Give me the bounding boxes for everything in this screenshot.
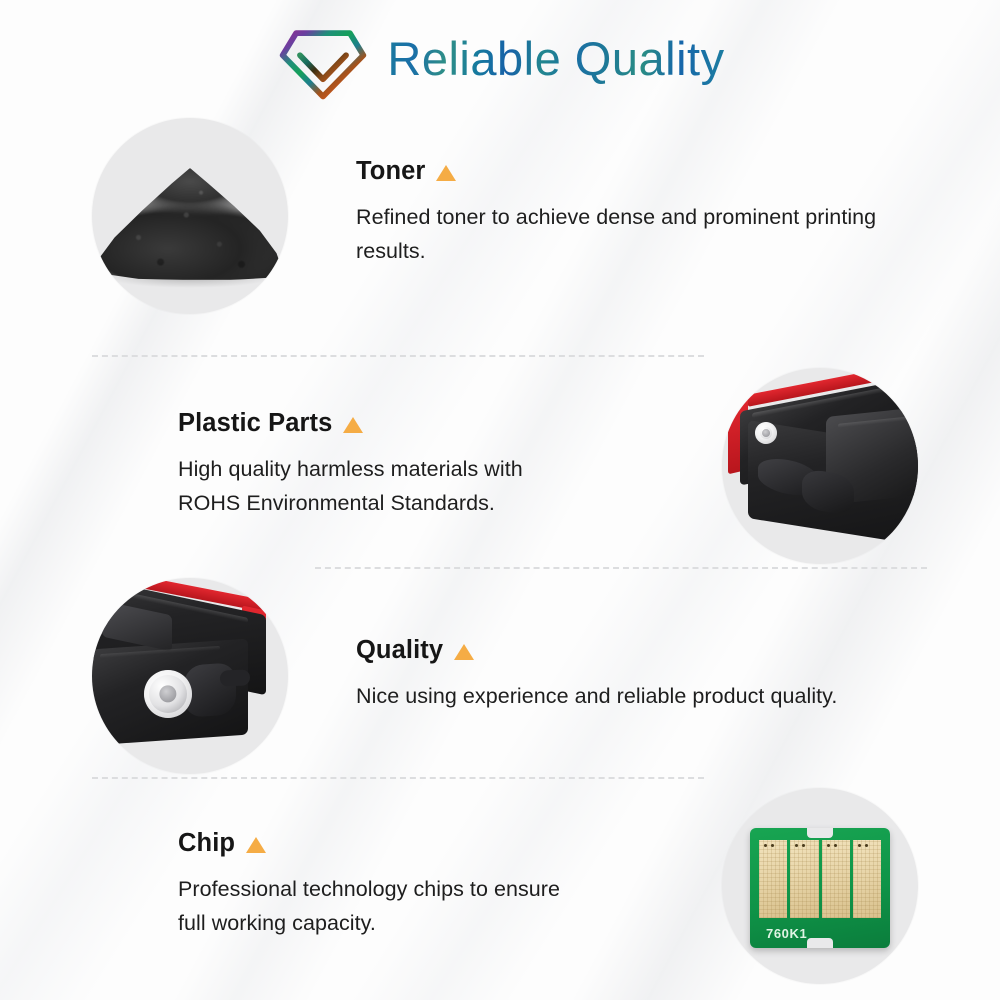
diamond-gem-logo-icon [275,12,371,108]
feature-row-toner: Toner Refined toner to achieve dense and… [92,118,922,314]
chip-pad [790,840,818,918]
feature-heading-plastic-parts: Plastic Parts [178,411,582,437]
feature-description: High quality harmless materials with ROH… [178,453,582,521]
feature-image-chip: 760K1 [722,788,918,984]
printer-chip-pcb: 760K1 [750,828,890,948]
section-divider [92,777,704,779]
feature-text-plastic-parts: Plastic Parts High quality harmless mate… [178,411,582,521]
chip-model-label: 760K1 [766,926,807,941]
feature-heading-chip: Chip [178,831,582,857]
feature-description: Nice using experience and reliable produ… [356,680,922,714]
triangle-up-icon [246,837,266,853]
page-title: Reliable Quality [387,35,724,86]
feature-image-toner-powder [92,118,288,314]
chip-notch-bottom [807,938,833,948]
triangle-up-icon [343,417,363,433]
cartridge-gear [144,670,192,718]
feature-description: Professional technology chips to ensure … [178,873,582,941]
feature-title: Quality [356,638,443,664]
feature-title: Toner [356,159,425,185]
feature-image-cartridge-gear [92,578,288,774]
section-divider [315,567,927,569]
chip-pad [822,840,850,918]
feature-description: Refined toner to achieve dense and promi… [356,201,922,269]
page-header: Reliable Quality [0,0,1000,120]
cartridge-nozzle [220,669,250,686]
feature-text-chip: Chip Professional technology chips to en… [178,831,582,941]
feature-row-plastic-parts: Plastic Parts High quality harmless mate… [178,368,918,564]
feature-text-toner: Toner Refined toner to achieve dense and… [356,159,922,269]
feature-text-quality: Quality Nice using experience and reliab… [356,638,922,714]
triangle-up-icon [454,644,474,660]
feature-row-quality: Quality Nice using experience and reliab… [92,578,922,774]
feature-title: Chip [178,831,235,857]
chip-pad [759,840,787,918]
chip-notch-top [807,828,833,838]
page-background: Reliable Quality Toner Refined toner to … [0,0,1000,1000]
toner-cartridge-illustration [92,578,288,774]
toner-cartridge-illustration [722,368,918,564]
feature-row-chip: 760K1 Chip Professional technology chips… [178,788,918,984]
feature-image-cartridge-side [722,368,918,564]
feature-heading-toner: Toner [356,159,922,185]
feature-heading-quality: Quality [356,638,922,664]
feature-title: Plastic Parts [178,411,332,437]
triangle-up-icon [436,165,456,181]
cartridge-gear [755,422,777,444]
toner-powder-pile [98,168,282,280]
chip-contact-pads [759,840,881,918]
powder-grain-texture [98,168,282,280]
chip-pad [853,840,881,918]
section-divider [92,355,704,357]
